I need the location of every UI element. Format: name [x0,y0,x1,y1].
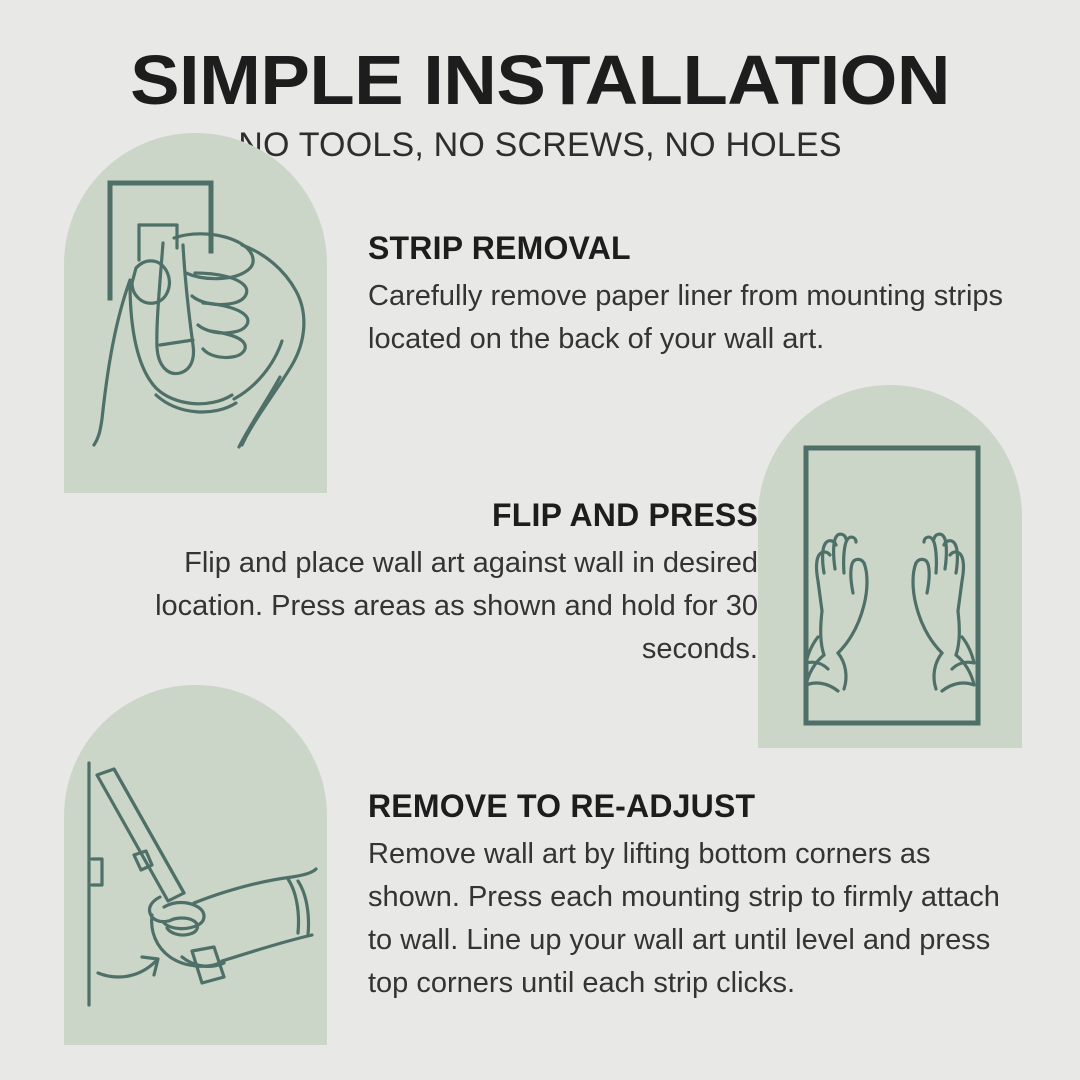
hand-lifting-wall-art-illustration [64,685,327,1045]
step-body: Remove wall art by lifting bottom corner… [368,833,1008,1005]
step-body: Flip and place wall art against wall in … [108,542,758,671]
step-heading: FLIP AND PRESS [108,495,758,535]
two-hands-pressing-wall-art-illustration [758,385,1022,748]
step-heading: REMOVE TO RE-ADJUST [368,786,1008,826]
step-remove-to-readjust: REMOVE TO RE-ADJUST Remove wall art by l… [368,786,1008,1005]
step-heading: STRIP REMOVAL [368,228,1008,268]
page-title: SIMPLE INSTALLATION [0,44,1080,116]
infographic-page: SIMPLE INSTALLATION NO TOOLS, NO SCREWS,… [0,0,1080,1080]
step-body: Carefully remove paper liner from mounti… [368,275,1008,361]
step-flip-and-press: FLIP AND PRESS Flip and place wall art a… [108,495,758,671]
hand-peeling-liner-illustration [64,133,327,493]
step-strip-removal: STRIP REMOVAL Carefully remove paper lin… [368,228,1008,361]
